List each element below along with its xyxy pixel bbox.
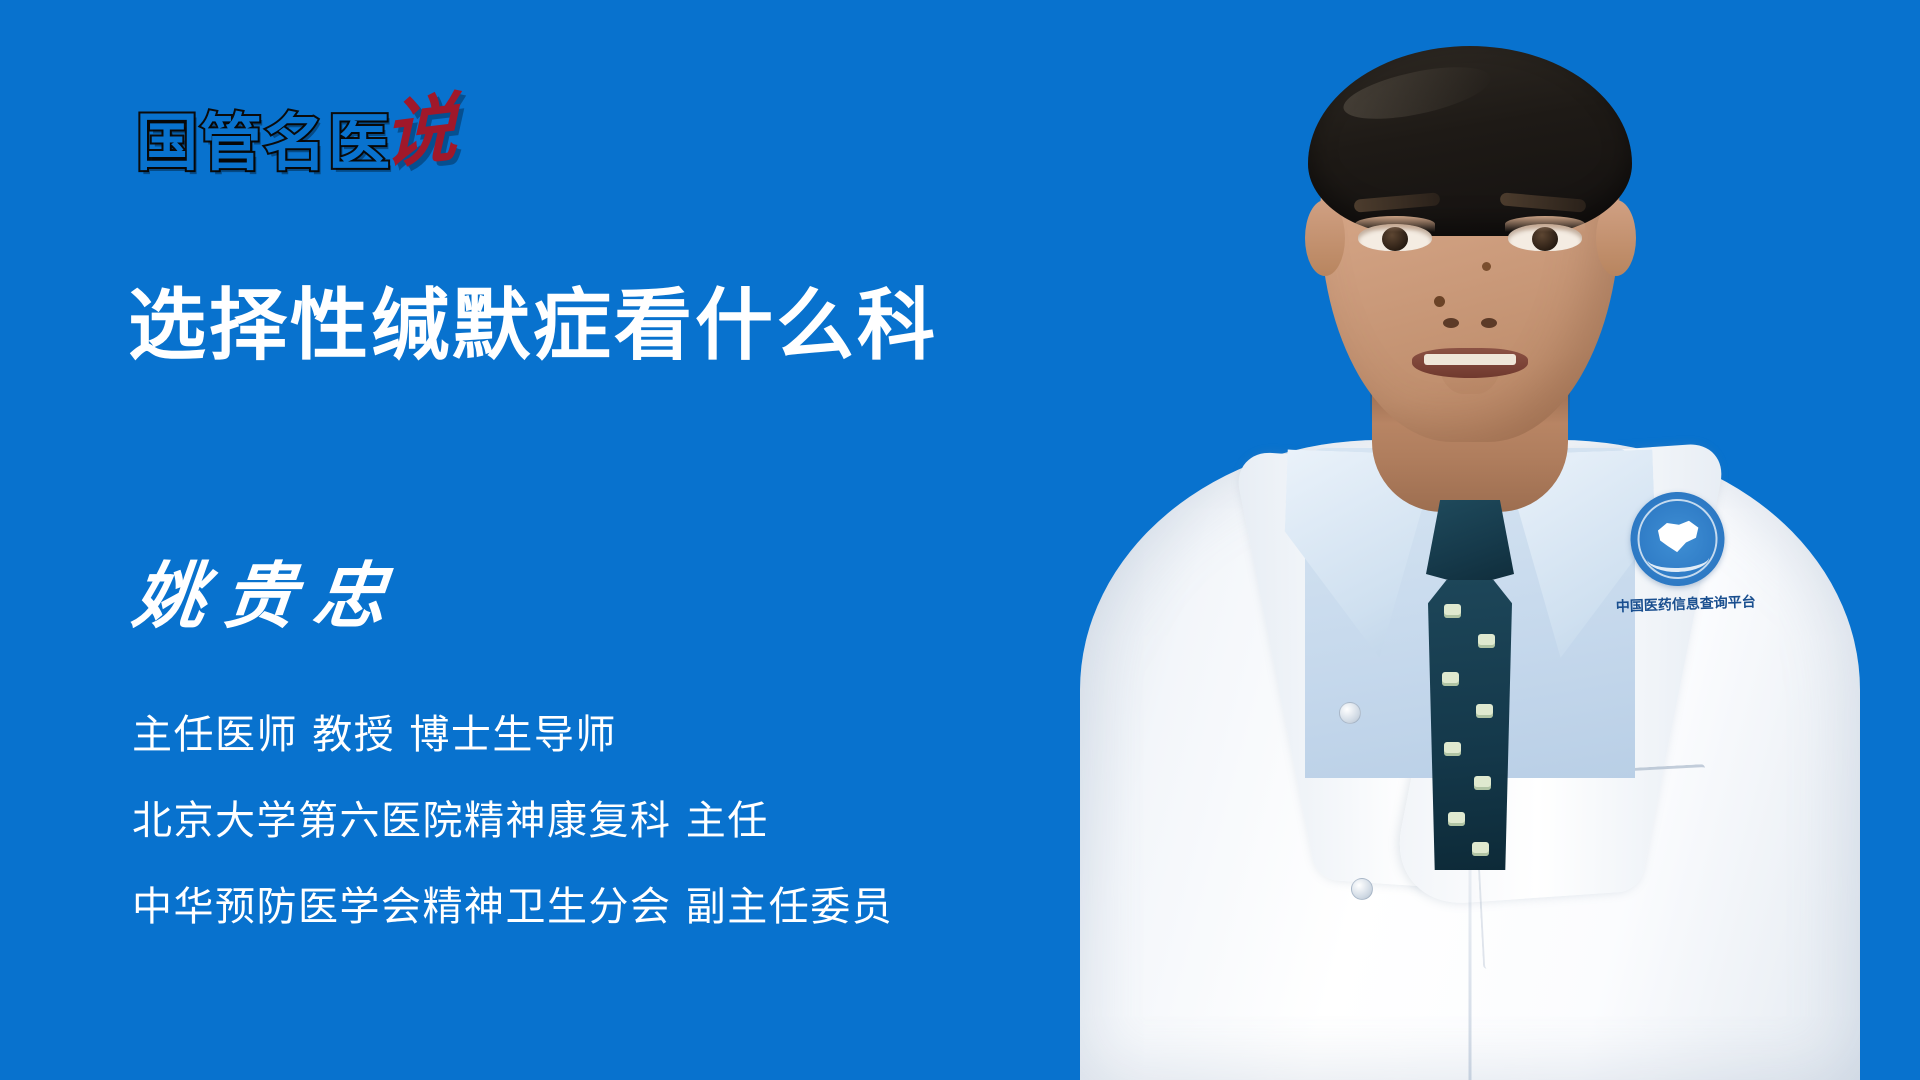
brand-logo: 国管名医 说 — [136, 96, 458, 174]
coat-pocket — [1473, 764, 1715, 969]
necktie-pattern-dot — [1448, 812, 1465, 826]
eyelid-left — [1355, 216, 1435, 232]
credential-line: 中华预防医学会精神卫生分会 副主任委员 — [132, 884, 893, 930]
necktie-pattern-dot — [1472, 842, 1489, 856]
nostril-right — [1481, 318, 1497, 328]
credential-line: 主任医师 教授 博士生导师 — [132, 712, 893, 758]
teeth — [1424, 354, 1516, 365]
brand-logo-main-text: 国管名医 — [136, 112, 392, 174]
doctor-credentials: 主任医师 教授 博士生导师 北京大学第六医院精神康复科 主任 中华预防医学会精神… — [132, 712, 893, 930]
necktie-body — [1428, 580, 1512, 870]
necktie-knot — [1426, 500, 1514, 586]
page-title: 选择性缄默症看什么科 — [128, 284, 938, 368]
doctor-portrait: 中国医药信息查询平台 — [1020, 0, 1920, 1080]
text-column: 国管名医 说 选择性缄默症看什么科 姚贵忠 主任医师 教授 博士生导师 北京大学… — [0, 0, 1100, 1080]
coat-button — [1351, 878, 1373, 900]
coat-badge: 中国医药信息查询平台 — [1612, 490, 1744, 616]
eyelid-right — [1505, 216, 1585, 232]
coat-button — [1339, 702, 1361, 724]
necktie-pattern-dot — [1444, 742, 1461, 756]
doctor-name: 姚贵忠 — [130, 560, 408, 632]
facial-mole — [1434, 296, 1445, 307]
brand-logo-accent-text: 说 — [383, 92, 458, 172]
necktie-pattern-dot — [1442, 672, 1459, 686]
necktie-pattern-dot — [1476, 704, 1493, 718]
necktie-pattern-dot — [1478, 634, 1495, 648]
nostril-left — [1443, 318, 1459, 328]
badge-emblem-icon — [1629, 490, 1726, 587]
mouth — [1412, 348, 1528, 378]
wreath-icon — [1647, 543, 1710, 573]
facial-mole — [1482, 262, 1491, 271]
necktie-pattern-dot — [1474, 776, 1491, 790]
promo-card: 国管名医 说 选择性缄默症看什么科 姚贵忠 主任医师 教授 博士生导师 北京大学… — [0, 0, 1920, 1080]
necktie-pattern-dot — [1444, 604, 1461, 618]
credential-line: 北京大学第六医院精神康复科 主任 — [132, 798, 893, 844]
